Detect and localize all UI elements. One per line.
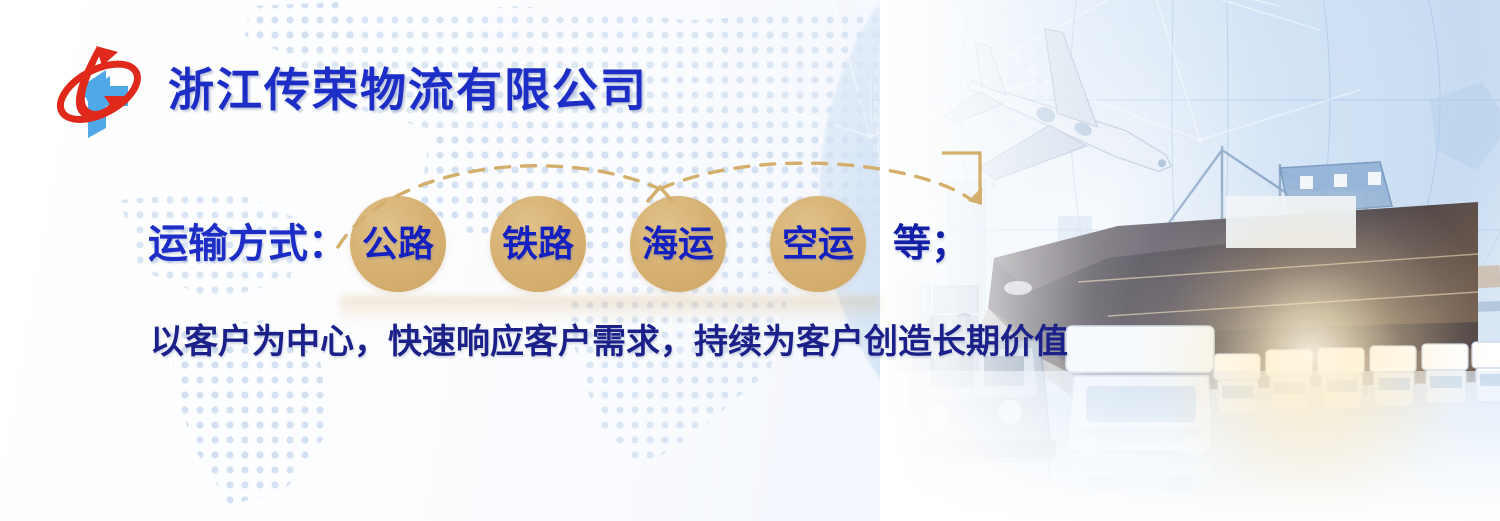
mode-label-road: 公路 — [362, 226, 434, 262]
air-transport-circle-icon[interactable]: 空运 — [770, 196, 866, 292]
company-name: 浙江传荣物流有限公司 — [168, 67, 648, 113]
transport-circle-group: 公路 铁路 海运 空运 — [350, 196, 863, 292]
road-transport-circle-icon[interactable]: 公路 — [350, 196, 446, 292]
swirl-arrow-logo-icon — [44, 36, 152, 144]
etc-text: 等； — [893, 225, 969, 263]
mode-label-sea: 海运 — [642, 226, 714, 262]
brand-header: 浙江传荣物流有限公司 — [44, 36, 648, 144]
sea-transport-circle-icon[interactable]: 海运 — [630, 196, 726, 292]
transport-modes-label: 运输方式： — [148, 224, 348, 264]
circles-reflection — [340, 296, 880, 322]
mode-label-rail: 铁路 — [502, 226, 574, 262]
transport-modes-row: 运输方式： 公路 铁路 海运 空运 等； — [148, 196, 969, 292]
mode-label-air: 空运 — [782, 226, 854, 262]
rail-transport-circle-icon[interactable]: 铁路 — [490, 196, 586, 292]
banner-content: 浙江传荣物流有限公司 运输方式： 公路 铁路 海运 空运 等； — [0, 0, 1500, 521]
logistics-banner: 浙江传荣物流有限公司 运输方式： 公路 铁路 海运 空运 等； — [0, 0, 1500, 521]
tagline: 以客户为中心，快速响应客户需求，持续为客户创造长期价值 — [150, 322, 1068, 363]
